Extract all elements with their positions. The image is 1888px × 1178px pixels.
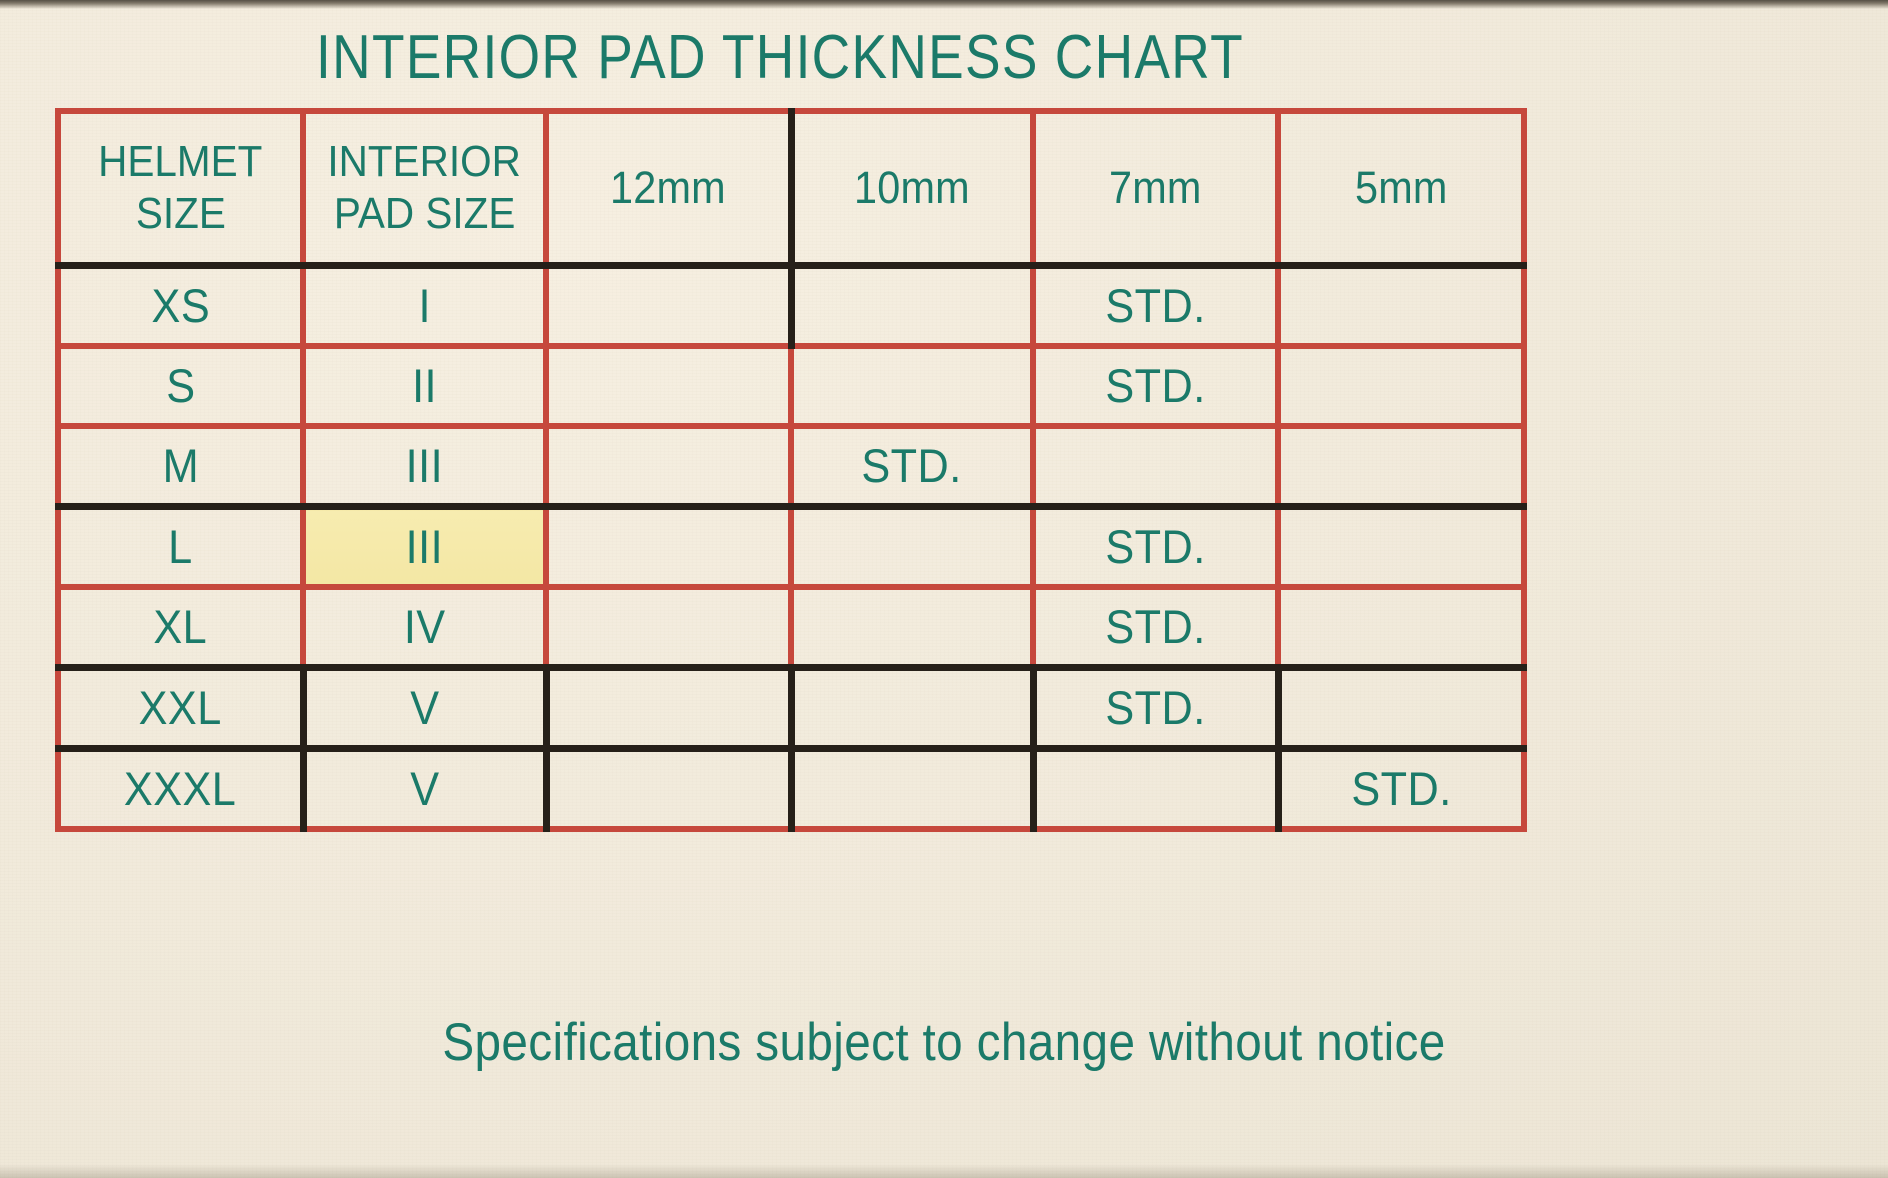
cell-7mm <box>1033 749 1278 830</box>
header-helmet-size-line2: SIZE <box>136 188 226 240</box>
cell-5mm <box>1278 426 1524 507</box>
table-row: XS I STD. <box>58 266 1524 347</box>
cell-12mm <box>546 426 791 507</box>
cell-pad-size: V <box>303 668 546 749</box>
cell-helmet-size: XXL <box>58 668 303 749</box>
cell-10mm <box>791 668 1033 749</box>
cell-7mm: STD. <box>1033 346 1278 426</box>
table-row: M III STD. <box>58 426 1524 507</box>
cell-10mm: STD. <box>791 426 1033 507</box>
cell-5mm <box>1278 266 1524 347</box>
cell-12mm <box>546 266 791 347</box>
column-header-12mm: 12mm <box>546 111 791 266</box>
cell-12mm <box>546 668 791 749</box>
cell-pad-size-highlighted: III <box>303 507 546 588</box>
column-header-pad-size: INTERIOR PAD SIZE <box>303 111 546 266</box>
cell-12mm <box>546 346 791 426</box>
cell-12mm <box>546 749 791 830</box>
footer-disclaimer: Specifications subject to change without… <box>94 1012 1793 1073</box>
cell-5mm <box>1278 507 1524 588</box>
page-title: INTERIOR PAD THICKNESS CHART <box>109 27 1451 89</box>
interior-pad-thickness-table: HELMET SIZE INTERIOR PAD SIZE 12mm 10mm … <box>55 108 1527 832</box>
cell-pad-size: II <box>303 346 546 426</box>
column-header-10mm: 10mm <box>791 111 1033 266</box>
header-7mm-label: 7mm <box>1109 165 1202 212</box>
cell-7mm <box>1033 426 1278 507</box>
cell-10mm <box>791 507 1033 588</box>
cell-7mm: STD. <box>1033 587 1278 668</box>
header-10mm-label: 10mm <box>854 165 970 212</box>
cell-helmet-size: XS <box>58 266 303 347</box>
cell-helmet-size: XL <box>58 587 303 668</box>
header-5mm-label: 5mm <box>1355 165 1448 212</box>
cell-helmet-size: S <box>58 346 303 426</box>
cell-7mm: STD. <box>1033 668 1278 749</box>
cell-pad-size: V <box>303 749 546 830</box>
table-row: XXL V STD. <box>58 668 1524 749</box>
cell-5mm: STD. <box>1278 749 1524 830</box>
table-row: S II STD. <box>58 346 1524 426</box>
table-row: XXXL V STD. <box>58 749 1524 830</box>
cell-10mm <box>791 346 1033 426</box>
header-12mm-label: 12mm <box>610 165 726 212</box>
table-row: L III STD. <box>58 507 1524 588</box>
cell-7mm: STD. <box>1033 507 1278 588</box>
cell-10mm <box>791 749 1033 830</box>
cell-helmet-size: XXXL <box>58 749 303 830</box>
header-pad-size-line1: INTERIOR <box>328 136 521 188</box>
cell-5mm <box>1278 346 1524 426</box>
cell-helmet-size: M <box>58 426 303 507</box>
cell-5mm <box>1278 587 1524 668</box>
cell-pad-size: IV <box>303 587 546 668</box>
table-row: XL IV STD. <box>58 587 1524 668</box>
cell-10mm <box>791 587 1033 668</box>
label-top-edge <box>0 0 1888 9</box>
header-helmet-size-line1: HELMET <box>98 136 262 188</box>
column-header-helmet-size: HELMET SIZE <box>58 111 303 266</box>
cell-pad-size: I <box>303 266 546 347</box>
cell-10mm <box>791 266 1033 347</box>
cell-helmet-size: L <box>58 507 303 588</box>
cell-5mm <box>1278 668 1524 749</box>
label-bottom-edge <box>0 1164 1888 1178</box>
cell-7mm: STD. <box>1033 266 1278 347</box>
column-header-5mm: 5mm <box>1278 111 1524 266</box>
header-pad-size-line2: PAD SIZE <box>334 188 515 240</box>
table-header-row: HELMET SIZE INTERIOR PAD SIZE 12mm 10mm … <box>58 111 1524 266</box>
cell-12mm <box>546 587 791 668</box>
cell-pad-size: III <box>303 426 546 507</box>
column-header-7mm: 7mm <box>1033 111 1278 266</box>
cell-12mm <box>546 507 791 588</box>
